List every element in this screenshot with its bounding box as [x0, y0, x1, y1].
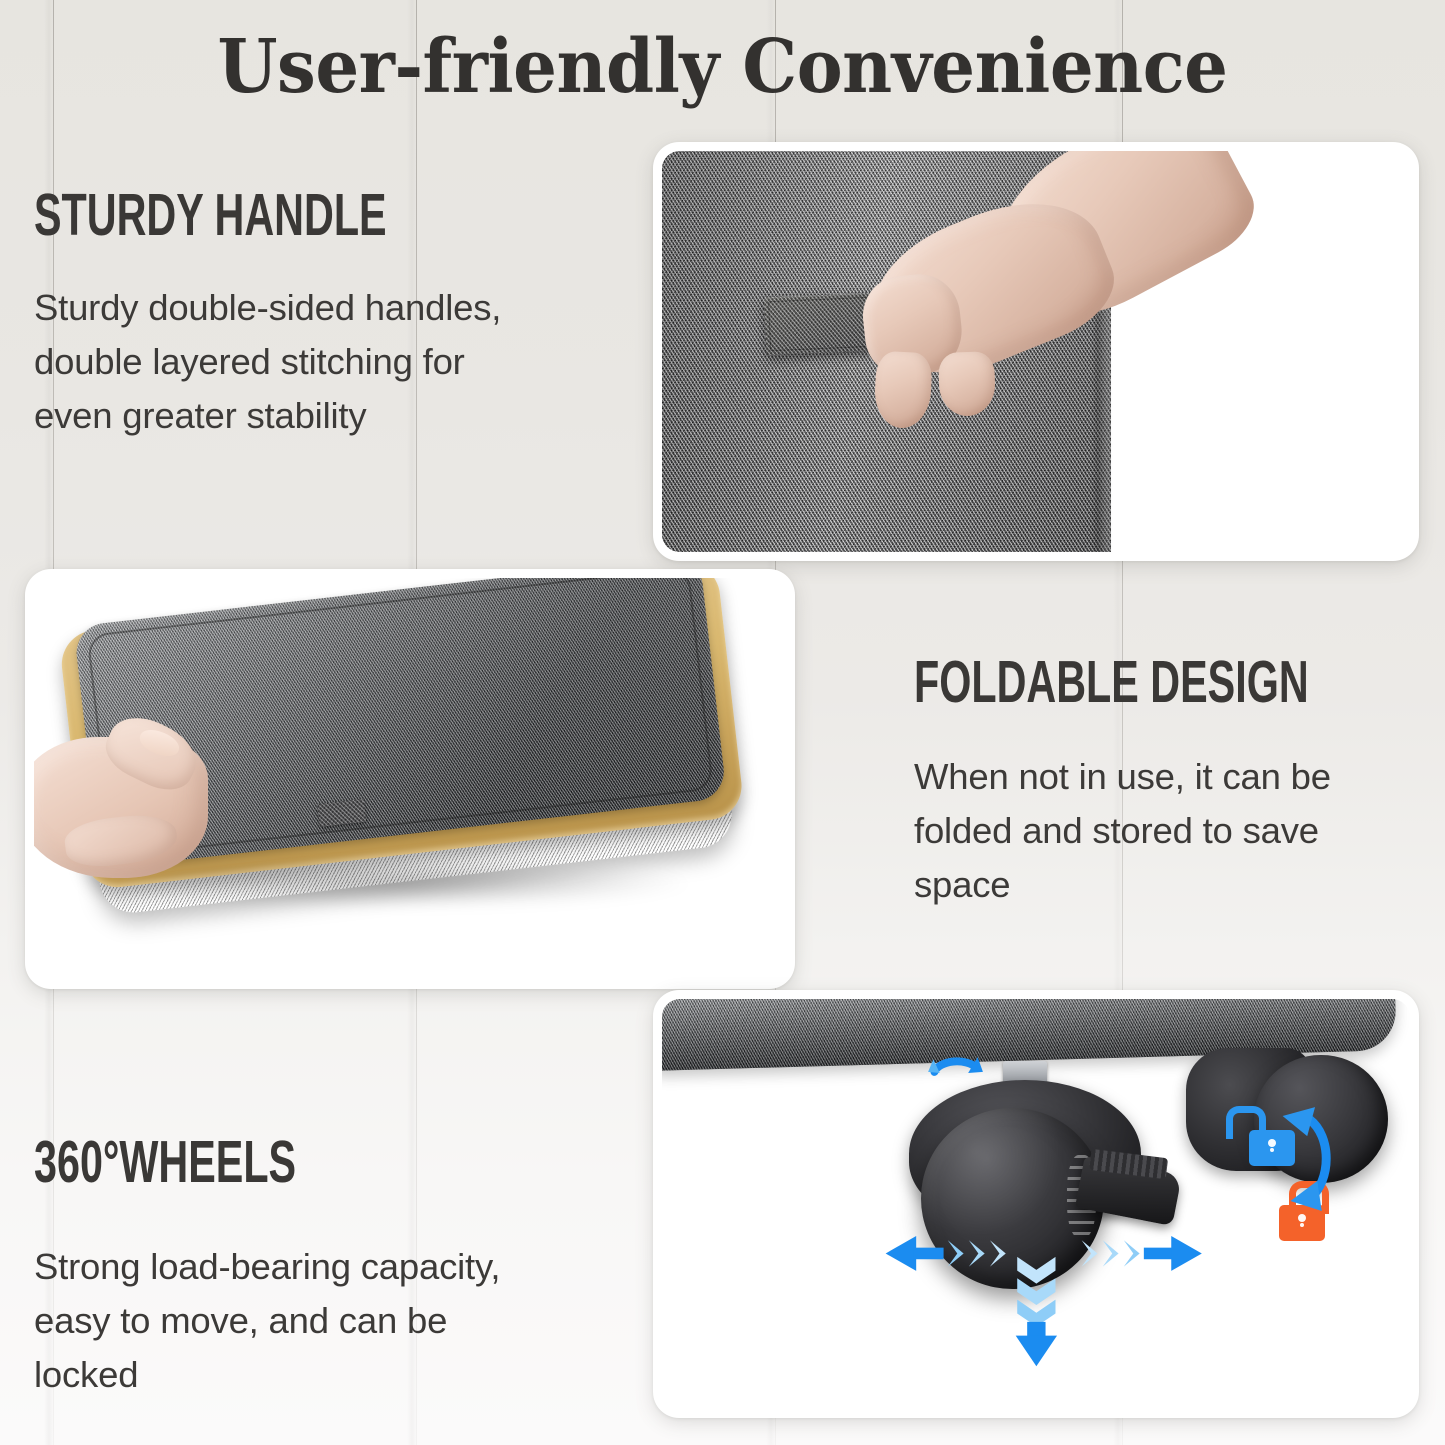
downward-direction-arrow-icon — [984, 1253, 1089, 1368]
hand-icon — [34, 723, 275, 904]
panel-folded-tray-photo-inner — [34, 578, 786, 980]
feature-body-sturdy-handle: Sturdy double-sided handles, double laye… — [34, 281, 634, 443]
lock-toggle-arrow-icon — [1253, 1097, 1350, 1220]
panel-folded-tray-photo — [25, 569, 795, 989]
feature-block-360-wheels: 360°WHEELS Strong load-bearing capacity,… — [34, 1133, 634, 1402]
feature-heading-foldable-design: FOLDABLE DESIGN — [914, 653, 1285, 712]
rotation-arrow-icon — [909, 1054, 1006, 1091]
panel-wheels-photo — [653, 990, 1419, 1418]
feature-block-foldable-design: FOLDABLE DESIGN When not in use, it can … — [914, 653, 1444, 912]
feature-heading-360-wheels: 360°WHEELS — [34, 1133, 454, 1192]
panel-handle-photo — [653, 142, 1419, 561]
feature-body-foldable-design: When not in use, it can be folded and st… — [914, 750, 1444, 912]
feature-block-sturdy-handle: STURDY HANDLE Sturdy double-sided handle… — [34, 186, 634, 443]
panel-handle-photo-inner — [662, 151, 1410, 552]
page-title: User-friendly Convenience — [51, 24, 1395, 110]
panel-wheels-photo-inner — [662, 999, 1410, 1409]
feature-body-360-wheels: Strong load-bearing capacity, easy to mo… — [34, 1240, 634, 1402]
infographic-canvas: User-friendly Convenience STURDY HANDLE … — [0, 0, 1445, 1445]
feature-heading-sturdy-handle: STURDY HANDLE — [34, 186, 454, 245]
